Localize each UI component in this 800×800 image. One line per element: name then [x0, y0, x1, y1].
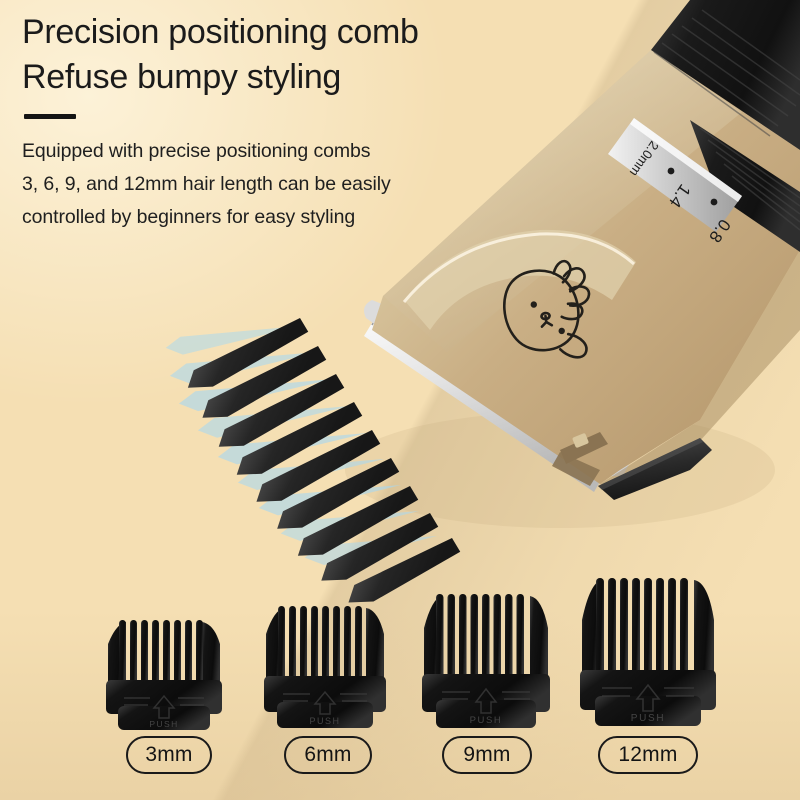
guard-size-labels: 3mm 6mm 9mm 12mm	[0, 736, 800, 782]
guard-comb-6mm[interactable]: PUSH	[262, 592, 388, 738]
marketing-copy-block: Precision positioning comb Refuse bumpy …	[22, 10, 562, 234]
blade-plate-silver	[364, 300, 632, 492]
svg-text:PUSH: PUSH	[631, 713, 666, 724]
headline-line-2: Refuse bumpy styling	[22, 55, 562, 100]
adjustment-dial-plate: 2.0mm 1.4 0.8	[608, 118, 742, 246]
headline-line-1: Precision positioning comb	[22, 10, 562, 55]
label-12mm[interactable]: 12mm	[598, 736, 698, 774]
dial-mark-2-0mm: 2.0mm	[627, 138, 662, 179]
guard-comb-3mm[interactable]: PUSH	[104, 602, 224, 738]
dial-mark-1-4: 1.4	[665, 181, 694, 211]
label-6mm[interactable]: 6mm	[284, 736, 372, 774]
svg-text:PUSH: PUSH	[470, 715, 503, 726]
guard-combs-row: PUSH	[0, 548, 800, 738]
guard-comb-9mm[interactable]: PUSH	[420, 582, 552, 738]
motion-trail-group	[164, 320, 438, 567]
label-3mm[interactable]: 3mm	[126, 736, 212, 774]
dial-scale-marks	[668, 168, 718, 206]
product-marketing-banner: Precision positioning comb Refuse bumpy …	[0, 0, 800, 800]
taper-lever	[560, 432, 712, 500]
svg-text:PUSH: PUSH	[309, 716, 340, 726]
body-line-2: 3, 6, 9, and 12mm hair length can be eas…	[22, 168, 562, 201]
bear-logo-icon	[499, 258, 598, 366]
headline-divider	[24, 114, 76, 119]
label-9mm[interactable]: 9mm	[442, 736, 532, 774]
body-line-3: controlled by beginners for easy styling	[22, 201, 562, 234]
clipper-grip	[651, 0, 800, 252]
body-line-1: Equipped with precise positioning combs	[22, 135, 562, 168]
guard-comb-12mm[interactable]: PUSH	[578, 566, 718, 738]
svg-text:PUSH: PUSH	[149, 719, 178, 729]
dial-mark-0-8: 0.8	[705, 216, 734, 246]
